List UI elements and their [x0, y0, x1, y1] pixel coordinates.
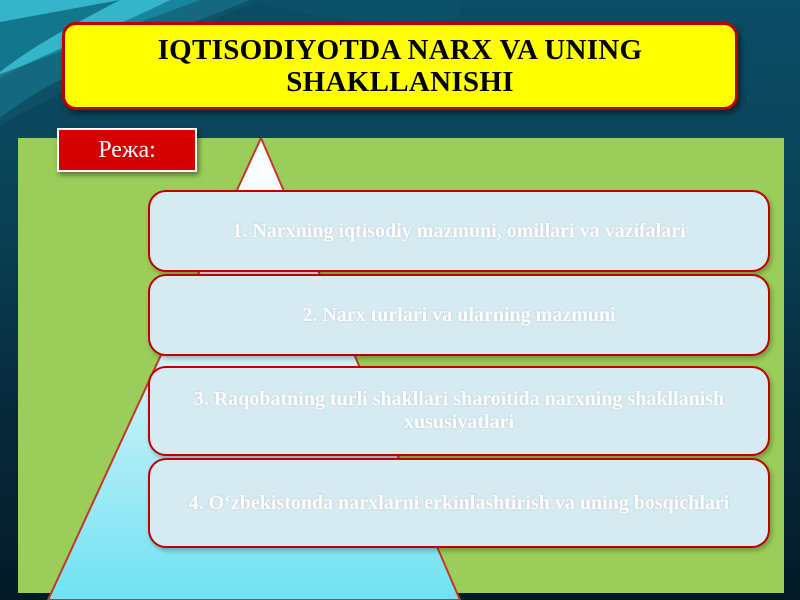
- list-item: 3. Raqobatning turli shakllari sharoitid…: [148, 366, 770, 456]
- list-item-label: 2. Narx turlari va ularning mazmuni: [286, 304, 631, 327]
- slide-title-box: IQTISODIYOTDA NARX VA UNING SHAKLLANISHI: [62, 22, 738, 110]
- list-item: 2. Narx turlari va ularning mazmuni: [148, 274, 770, 356]
- list-item-label: 1. Narxning iqtisodiy mazmuni, omillari …: [216, 220, 701, 243]
- list-item: 4. O‘zbekistonda narxlarni erkinlashtiri…: [148, 458, 770, 548]
- slide: IQTISODIYOTDA NARX VA UNING SHAKLLANISHI…: [0, 0, 800, 600]
- list-item-label: 3. Raqobatning turli shakllari sharoitid…: [150, 388, 768, 434]
- list-item: 1. Narxning iqtisodiy mazmuni, omillari …: [148, 190, 770, 272]
- plan-label-box: Режа:: [57, 128, 197, 172]
- plan-label: Режа:: [98, 138, 156, 162]
- page-title: IQTISODIYOTDA NARX VA UNING SHAKLLANISHI: [65, 34, 735, 99]
- list-item-label: 4. O‘zbekistonda narxlarni erkinlashtiri…: [173, 492, 746, 515]
